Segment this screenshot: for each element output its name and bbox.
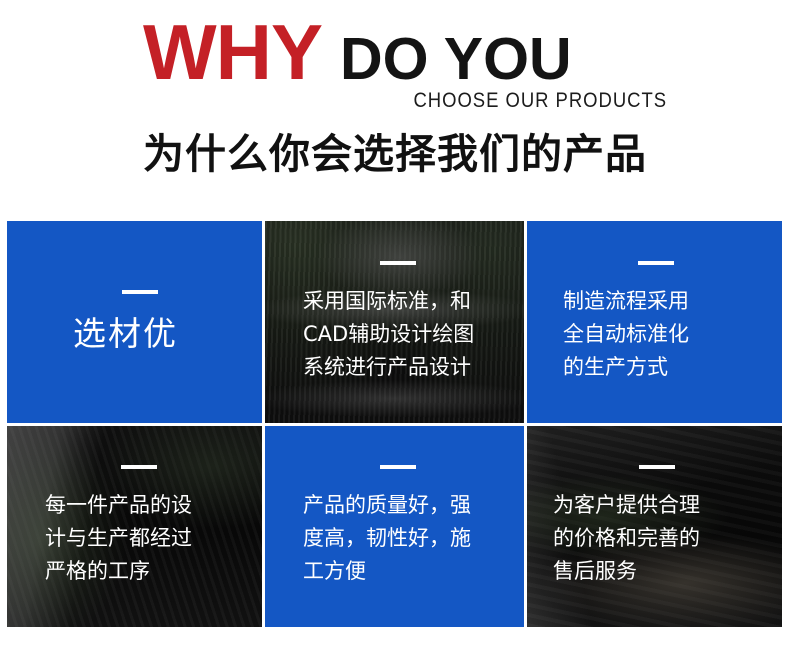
feature-cell-3-body: 制造流程采用 全自动标准化 的生产方式 bbox=[527, 221, 782, 423]
feature-cell-3-text: 制造流程采用 全自动标准化 的生产方式 bbox=[527, 285, 703, 384]
headline-block: WHY DO YOU bbox=[0, 12, 790, 97]
headline-inner: WHY DO YOU bbox=[143, 12, 572, 99]
headline-why: WHY bbox=[143, 12, 322, 92]
feature-cell-2-body: 采用国际标准，和 CAD辅助设计绘图 系统进行产品设计 bbox=[265, 221, 524, 423]
divider-dash-icon bbox=[380, 261, 416, 265]
feature-cell-2-text: 采用国际标准，和 CAD辅助设计绘图 系统进行产品设计 bbox=[265, 285, 488, 384]
feature-cell-3: 制造流程采用 全自动标准化 的生产方式 bbox=[527, 221, 782, 423]
divider-dash-icon bbox=[638, 261, 674, 265]
feature-cell-4-text: 每一件产品的设 计与生产都经过 严格的工序 bbox=[7, 489, 206, 588]
feature-cell-6: 为客户提供合理 的价格和完善的 售后服务 bbox=[527, 426, 782, 627]
banner-header: WHY DO YOU CHOOSE OUR PRODUCTS 为什么你会选择我们… bbox=[0, 0, 790, 210]
feature-cell-4-body: 每一件产品的设 计与生产都经过 严格的工序 bbox=[7, 426, 262, 627]
feature-cell-1-body: 选材优 bbox=[7, 221, 262, 423]
divider-dash-icon bbox=[639, 465, 675, 469]
divider-dash-icon bbox=[121, 465, 157, 469]
feature-cell-6-body: 为客户提供合理 的价格和完善的 售后服务 bbox=[527, 426, 782, 627]
page-title-chinese: 为什么你会选择我们的产品 bbox=[0, 128, 790, 180]
headline-subline: CHOOSE OUR PRODUCTS bbox=[80, 89, 667, 113]
feature-cell-2: 采用国际标准，和 CAD辅助设计绘图 系统进行产品设计 bbox=[265, 221, 524, 423]
headline-do-you: DO YOU bbox=[340, 19, 572, 99]
promo-banner: WHY DO YOU CHOOSE OUR PRODUCTS 为什么你会选择我们… bbox=[0, 0, 790, 665]
feature-cell-4: 每一件产品的设 计与生产都经过 严格的工序 bbox=[7, 426, 262, 627]
feature-cell-6-text: 为客户提供合理 的价格和完善的 售后服务 bbox=[527, 489, 714, 588]
divider-dash-icon bbox=[380, 465, 416, 469]
feature-cell-1: 选材优 bbox=[7, 221, 262, 423]
feature-cell-5-body: 产品的质量好，强 度高，韧性好，施 工方便 bbox=[265, 426, 524, 627]
feature-grid: 选材优 采用国际标准，和 CAD辅助设计绘图 系统进行产品设计 制造流程采用 全… bbox=[7, 221, 782, 640]
feature-cell-5-text: 产品的质量好，强 度高，韧性好，施 工方便 bbox=[265, 489, 485, 588]
feature-cell-5: 产品的质量好，强 度高，韧性好，施 工方便 bbox=[265, 426, 524, 627]
divider-dash-icon bbox=[122, 290, 158, 294]
feature-cell-1-text: 选材优 bbox=[7, 314, 192, 354]
